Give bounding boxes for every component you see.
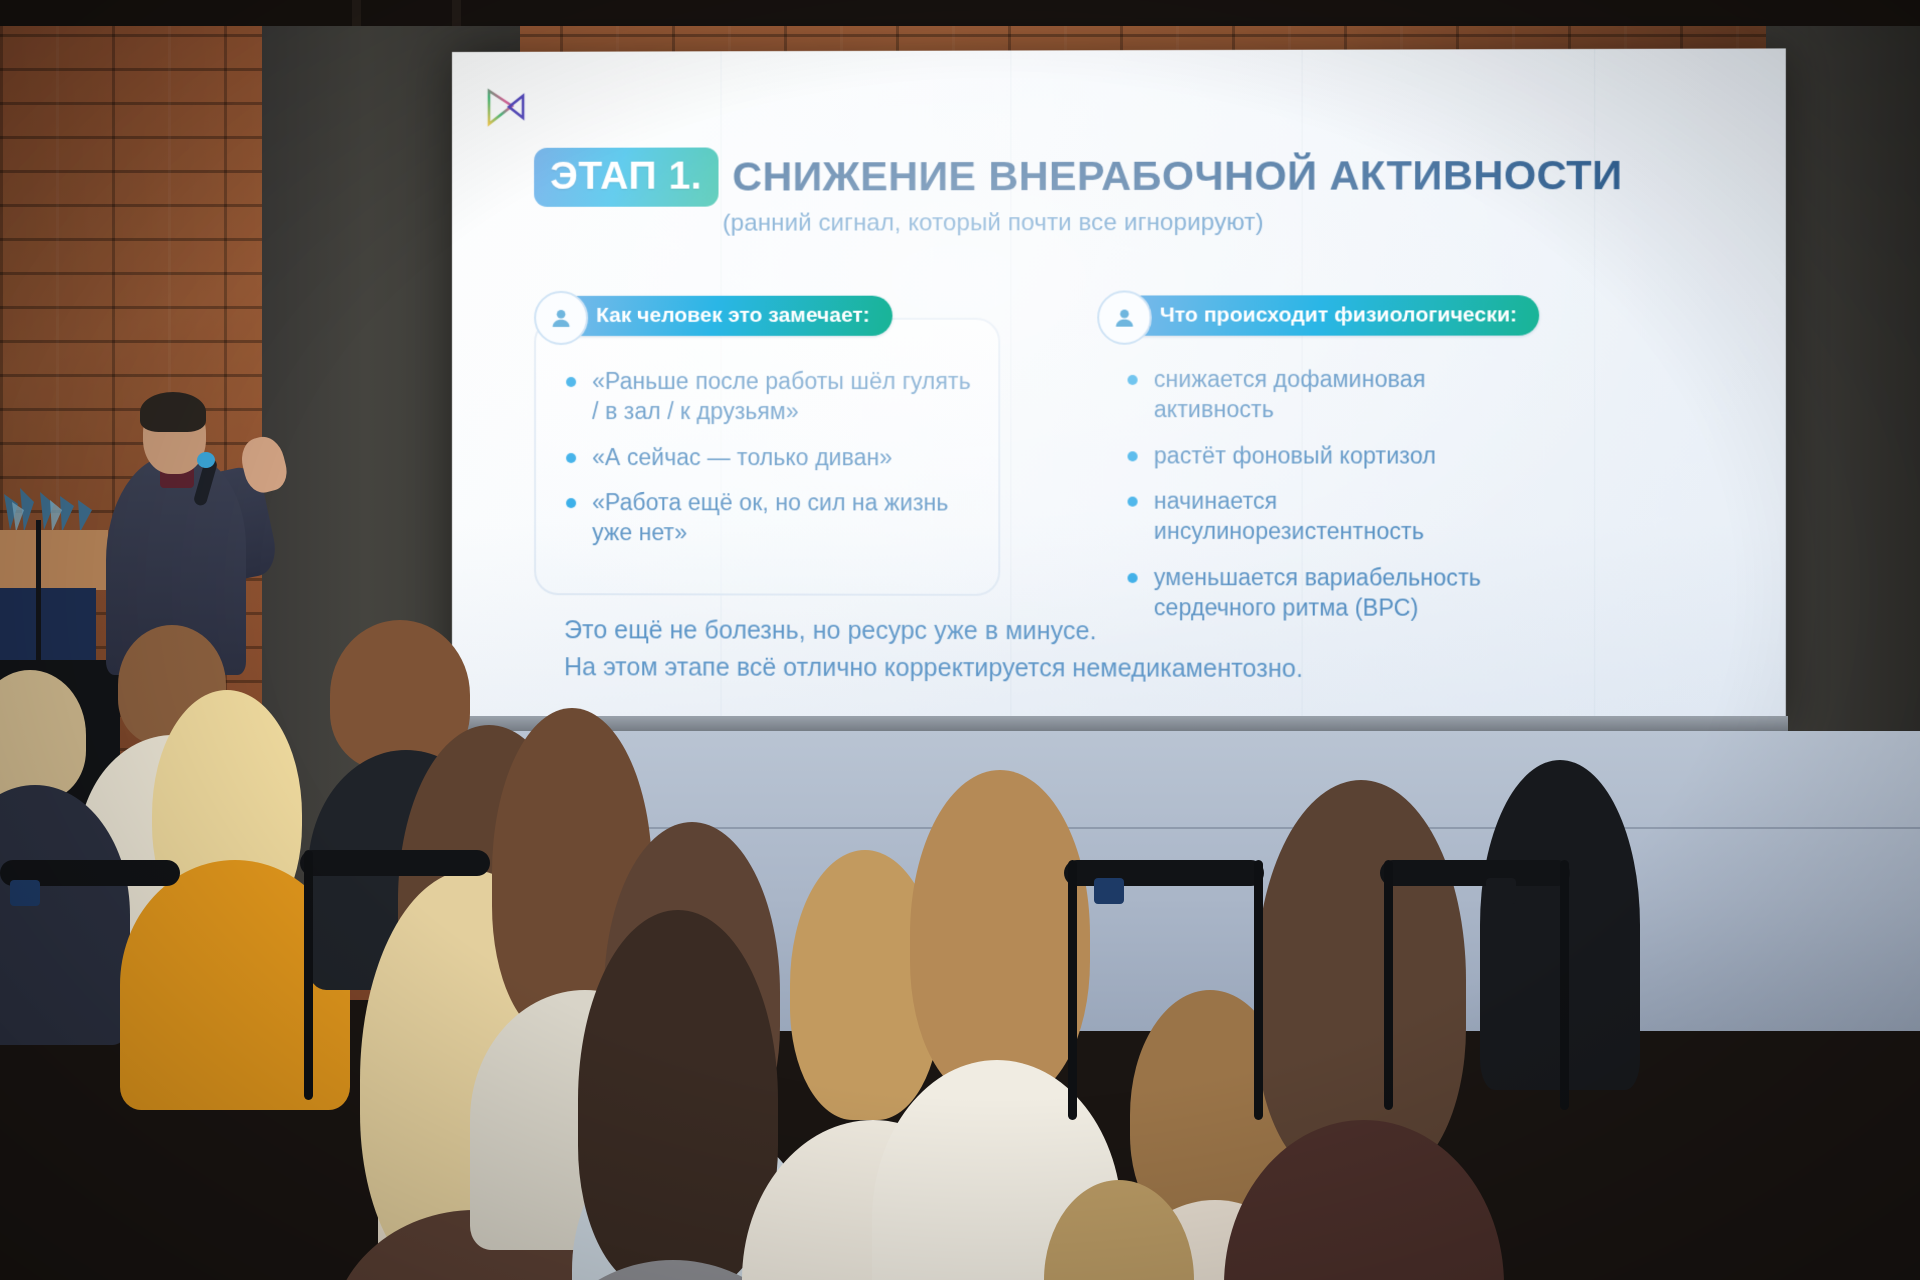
chip-label: Что происходит физиологически: — [1160, 303, 1517, 327]
chair-leg — [1560, 860, 1569, 1110]
slide-subtitle: (ранний сигнал, который почти все игнори… — [723, 209, 1264, 238]
list-item: снижается дофаминовая активность — [1123, 364, 1541, 425]
chair-leg — [1384, 860, 1393, 1110]
list-item: «Работа ещё ок, но сил на жизнь уже нет» — [562, 487, 972, 548]
stage-badge: ЭТАП 1. — [534, 147, 718, 206]
card-human-perception: «Раньше после работы шёл гулять / в зал … — [534, 318, 1000, 596]
butterfly-logo — [485, 88, 529, 130]
audience — [0, 560, 1920, 1280]
slide-title-row: ЭТАП 1. СНИЖЕНИЕ ВНЕРАБОЧНОЙ АКТИВНОСТИ — [534, 145, 1763, 206]
list-item: начинается инсулинорезистентность — [1123, 486, 1541, 548]
user-avatar-icon — [534, 291, 588, 345]
ceiling-band — [0, 0, 1920, 26]
list-item: растёт фоновый кортизол — [1123, 440, 1541, 471]
conference-photo-scene: ЭТАП 1. СНИЖЕНИЕ ВНЕРАБОЧНОЙ АКТИВНОСТИ … — [0, 0, 1920, 1280]
chip-human-perception: Как человек это замечает: — [552, 296, 892, 336]
chair-leg — [1068, 860, 1077, 1120]
page-title: СНИЖЕНИЕ ВНЕРАБОЧНОЙ АКТИВНОСТИ — [732, 152, 1622, 201]
chair-badge — [10, 880, 40, 906]
presenter-hair — [140, 392, 206, 432]
list-item: «А сейчас — только диван» — [562, 442, 972, 473]
chair — [300, 850, 490, 876]
chair-badge — [1094, 878, 1124, 904]
user-avatar-icon — [1097, 290, 1152, 344]
chip-physiology: Что происходит физиологически: — [1115, 295, 1539, 336]
chair — [1380, 860, 1570, 886]
microphone-head — [197, 452, 215, 468]
chip-label: Как человек это замечает: — [596, 304, 870, 328]
list-item: «Раньше после работы шёл гулять / в зал … — [562, 366, 972, 427]
chair-leg — [304, 850, 313, 1100]
bullet-list-human: «Раньше после работы шёл гулять / в зал … — [562, 366, 972, 549]
chair-badge — [1486, 878, 1516, 904]
chair-leg — [1254, 860, 1263, 1120]
